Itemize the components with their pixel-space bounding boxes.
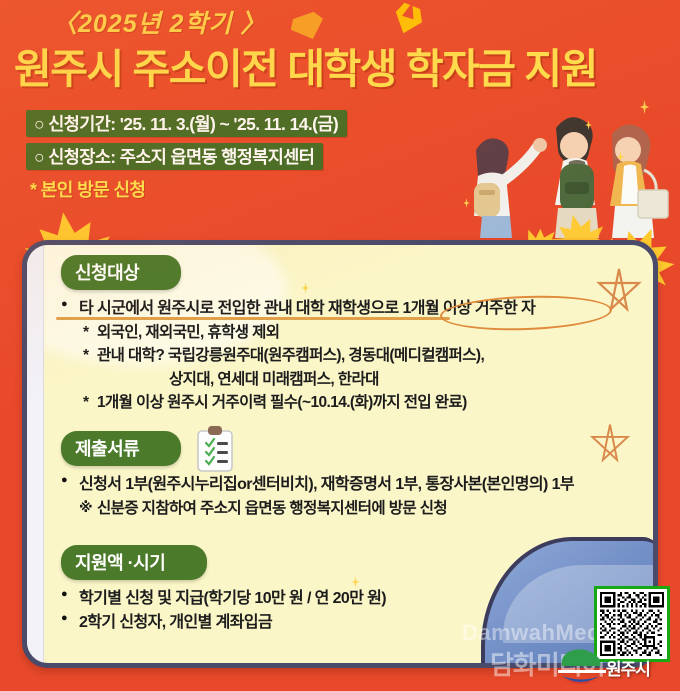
- list-item: 상지대, 연세대 미래캠퍼스, 한라대: [61, 368, 653, 391]
- page-title: 원주시 주소이전 대학생 학자금 지원: [14, 48, 674, 91]
- list-item: 1개월 이상 원주시 거주이력 필수(~10.14.(화)까지 전입 완료): [61, 391, 653, 414]
- students-illustration: [452, 98, 674, 238]
- list-item: 관내 대학? 국립강릉원주대(원주캠퍼스), 경동대(메디컬캠퍼스),: [61, 344, 653, 367]
- section-eligibility-title: 신청대상: [61, 255, 181, 290]
- section-documents-lines: 신청서 1부(원주시누리집or센터비치), 재학증명서 1부, 통장사본(본인명…: [27, 473, 653, 520]
- section-amount-schedule-title: 지원액 ·시기: [61, 545, 207, 580]
- section-documents: 제출서류 신청서 1부(원주시누리집or센터비치), 재학증명서 1부, 통장사…: [27, 431, 653, 520]
- poster-kicker: 〈2025년 2학기 〉: [52, 4, 266, 40]
- info-note-visit-in-person: * 본인 방문 신청: [30, 176, 145, 202]
- qr-code-image: [600, 592, 664, 656]
- city-name-label: 원주시: [606, 655, 650, 680]
- section-eligibility: 신청대상 타 시군에서 원주시로 전입한 관내 대학 재학생으로 1개월 이상 …: [27, 255, 653, 414]
- list-item: 신분증 지참하여 주소지 읍면동 행정복지센터에 방문 신청: [61, 497, 653, 520]
- list-item: 신청서 1부(원주시누리집or센터비치), 재학증명서 1부, 통장사본(본인명…: [61, 473, 653, 497]
- info-bar-application-period: ○ 신청기간: '25. 11. 3.(월) ~ '25. 11. 14.(금): [26, 110, 347, 137]
- ginkgo-leaf-notch: [402, 1, 418, 20]
- info-bar-application-place: ○ 신청장소: 주소지 읍면동 행정복지센터: [26, 143, 323, 170]
- poster-root: 〈2025년 2학기 〉 원주시 주소이전 대학생 학자금 지원 ○ 신청기간:…: [0, 0, 680, 691]
- underline-annotation: [56, 317, 450, 320]
- clipboard-checklist-icon: [195, 425, 235, 473]
- section-documents-title: 제출서류: [61, 431, 181, 466]
- ginkgo-leaf-icon: [287, 9, 328, 46]
- ginkgo-leaf-icon: [389, 0, 427, 38]
